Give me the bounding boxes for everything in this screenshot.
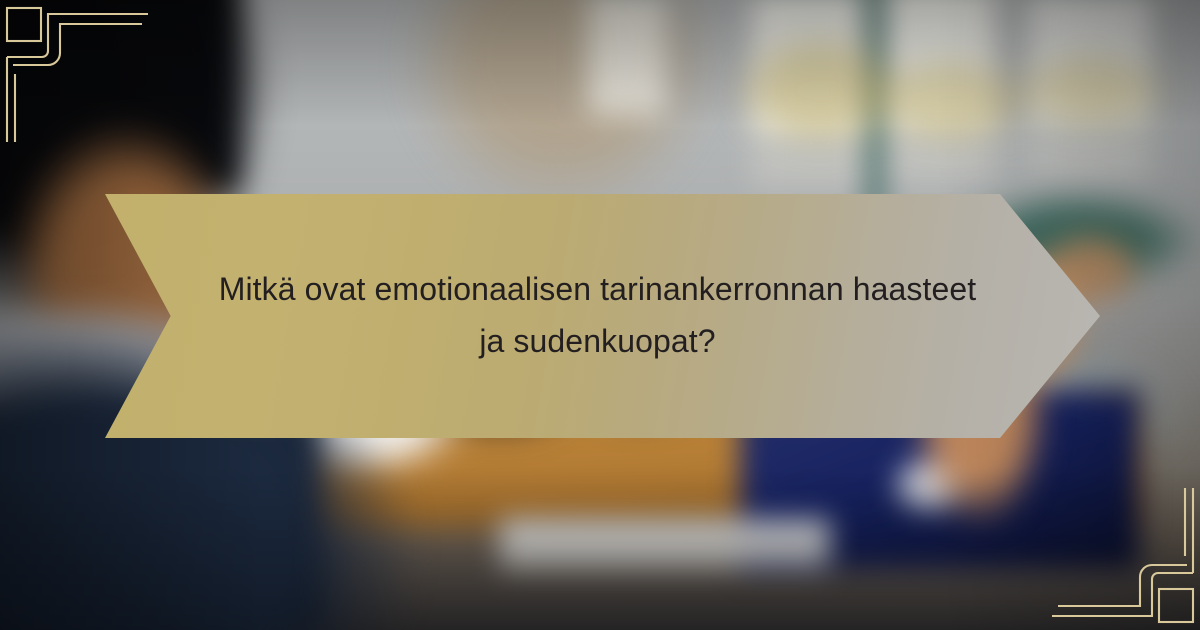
social-card-canvas: Mitkä ovat emotionaalisen tarinankerronn… [0,0,1200,630]
headline-banner-shape: Mitkä ovat emotionaalisen tarinankerronn… [105,194,1100,438]
headline-text: Mitkä ovat emotionaalisen tarinankerronn… [215,264,980,368]
headline-banner: Mitkä ovat emotionaalisen tarinankerronn… [105,194,1100,438]
